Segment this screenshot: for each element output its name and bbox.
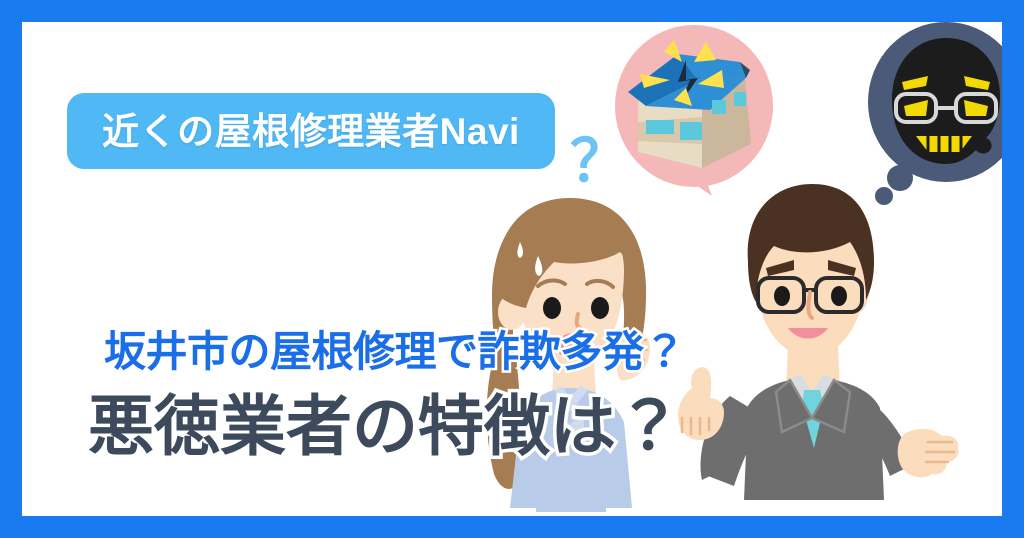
headline-title: 悪徳業者の特徴は？ [88, 393, 682, 459]
white-stage: 近くの屋根修理業者Navi ？ 坂井市の屋根修理で詐欺多発？ 悪徳業者の特徴は？ [22, 22, 1002, 516]
man-eye-left [774, 286, 790, 306]
window-front-right [680, 122, 702, 140]
thumbnail-canvas: 近くの屋根修理業者Navi ？ 坂井市の屋根修理で詐欺多発？ 悪徳業者の特徴は？ [0, 0, 1024, 538]
window-side-right [734, 92, 746, 106]
site-name-badge[interactable]: 近くの屋根修理業者Navi [67, 93, 555, 169]
man-eye-right [831, 286, 847, 306]
window-side-left [712, 100, 726, 114]
businessman-with-glasses [652, 180, 962, 516]
site-name-label: 近くの屋根修理業者Navi [102, 113, 520, 150]
woman-eye-right [591, 297, 609, 319]
woman-eye-left [543, 297, 561, 319]
villain-face-icon [892, 38, 1000, 164]
window-front-left [646, 120, 674, 134]
headline-subtitle: 坂井市の屋根修理で詐欺多発？ [104, 331, 685, 373]
